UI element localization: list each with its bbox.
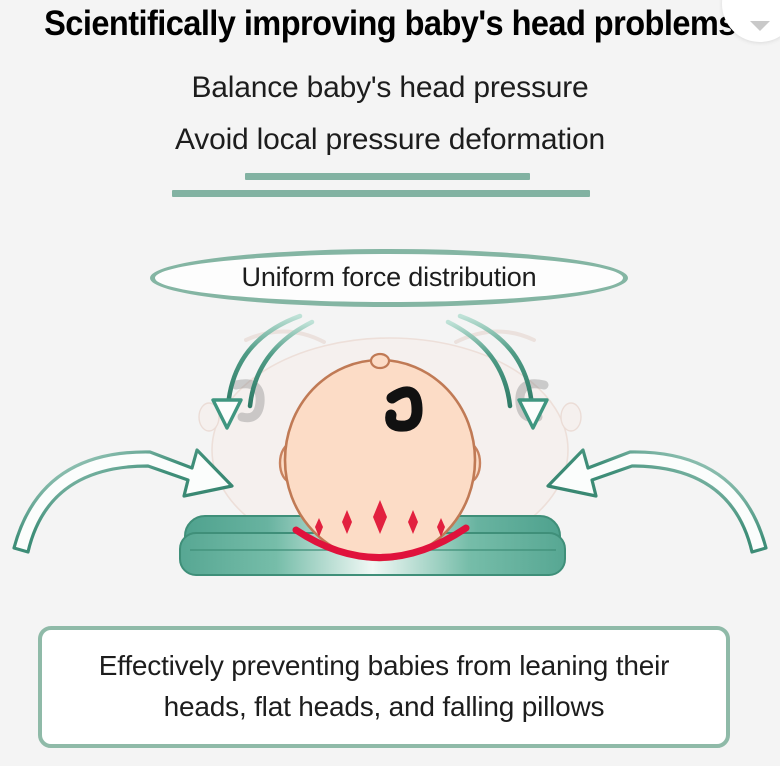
chevron-down-icon — [749, 20, 771, 38]
divider-lower — [172, 190, 590, 197]
divider-upper — [245, 173, 530, 180]
callout-ellipse: Uniform force distribution — [150, 249, 628, 307]
promo-graphic-page: Scientifically improving baby's head pro… — [0, 0, 780, 766]
callout-label: Uniform force distribution — [155, 262, 623, 293]
statement-text: Effectively preventing babies from leani… — [42, 646, 726, 727]
arrow-curve-right — [548, 450, 766, 552]
page-title: Scientifically improving baby's head pro… — [27, 4, 752, 44]
subtitle-primary: Balance baby's head pressure — [0, 71, 780, 105]
subtitle-secondary: Avoid local pressure deformation — [0, 123, 780, 157]
statement-box: Effectively preventing babies from leani… — [38, 626, 730, 748]
illustration — [0, 300, 780, 610]
